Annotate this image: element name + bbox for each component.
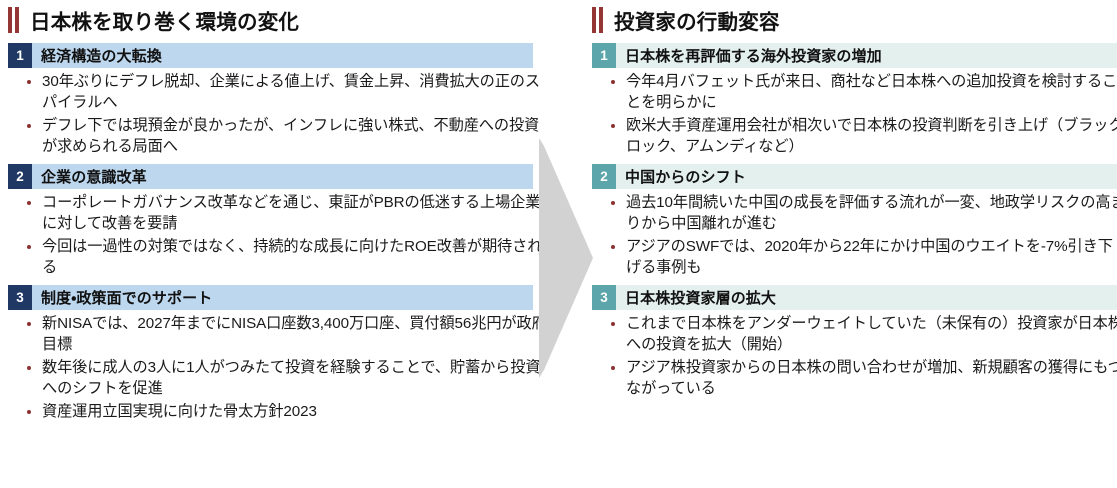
left-section-3-heading: 制度・政策面でのサポート xyxy=(32,285,533,310)
list-item: デフレ下では現預金が良かったが、インフレに強い株式、不動産への投資が求められる局… xyxy=(8,116,547,158)
list-item: アジア株投資家からの日本株の問い合わせが増加、新規顧客の獲得にもつながっている xyxy=(592,358,1117,400)
list-item: アジアのSWFでは、2020年から22年にかけ中国のウエイトを-7%引き下げる事… xyxy=(592,237,1117,279)
right-section-2-number: 2 xyxy=(592,164,616,189)
bullet-dot-icon xyxy=(611,201,615,205)
list-item: 今回は一過性の対策ではなく、持続的な成長に向けたROE改善が期待される xyxy=(8,237,547,279)
right-section-3: 3 日本株投資家層の拡大 これまで日本株をアンダーウェイトしていた（未保有の）投… xyxy=(592,285,1117,400)
left-section-1: 1 経済構造の大転換 30年ぶりにデフレ脱却、企業による値上げ、賃金上昇、消費拡… xyxy=(8,43,541,158)
right-section-2-heading: 中国からのシフト xyxy=(616,164,1117,189)
right-section-2: 2 中国からのシフト 過去10年間続いた中国の成長を評価する流れが一変、地政学リ… xyxy=(592,164,1117,279)
list-item: コーポレートガバナンス改革などを通じ、東証がPBRの低迷する上場企業に対して改善… xyxy=(8,193,547,235)
list-item-text: 資産運用立国実現に向けた骨太方針2023 xyxy=(42,403,317,420)
right-section-2-bullets: 過去10年間続いた中国の成長を評価する流れが一変、地政学リスクの高まりから中国離… xyxy=(592,193,1117,279)
right-section-1-header: 1 日本株を再評価する海外投資家の増加 xyxy=(592,43,1117,68)
left-section-1-heading: 経済構造の大転換 xyxy=(32,43,533,68)
bullet-dot-icon xyxy=(27,80,31,84)
list-item: 資産運用立国実現に向けた骨太方針2023 xyxy=(8,402,547,423)
left-section-2-bullets: コーポレートガバナンス改革などを通じ、東証がPBRの低迷する上場企業に対して改善… xyxy=(8,193,541,279)
left-section-1-number: 1 xyxy=(8,43,32,68)
right-section-1-heading: 日本株を再評価する海外投資家の増加 xyxy=(616,43,1117,68)
list-item: 30年ぶりにデフレ脱却、企業による値上げ、賃金上昇、消費拡大の正のスパイラルへ xyxy=(8,72,547,114)
list-item-text: 今年4月バフェット氏が来日、商社など日本株への追加投資を検討することを明らかに xyxy=(626,73,1117,111)
right-section-3-bullets: これまで日本株をアンダーウェイトしていた（未保有の）投資家が日本株への投資を拡大… xyxy=(592,314,1117,400)
left-column: 日本株を取り巻く環境の変化 1 経済構造の大転換 30年ぶりにデフレ脱却、企業に… xyxy=(8,0,541,429)
list-item: 数年後に成人の3人に1人がつみたて投資を経験することで、貯蓄から投資へのシフトを… xyxy=(8,358,547,400)
list-item-text: 数年後に成人の3人に1人がつみたて投資を経験することで、貯蓄から投資へのシフトを… xyxy=(42,359,540,397)
left-section-3-bullets: 新NISAでは、2027年までにNISA口座数3,400万口座、買付額56兆円が… xyxy=(8,314,541,423)
right-section-1-bullets: 今年4月バフェット氏が来日、商社など日本株への追加投資を検討することを明らかに … xyxy=(592,72,1117,158)
left-section-1-header: 1 経済構造の大転換 xyxy=(8,43,533,68)
list-item-text: 新NISAでは、2027年までにNISA口座数3,400万口座、買付額56兆円が… xyxy=(42,315,547,353)
bullet-dot-icon xyxy=(611,322,615,326)
left-section-3-number: 3 xyxy=(8,285,32,310)
list-item: 今年4月バフェット氏が来日、商社など日本株への追加投資を検討することを明らかに xyxy=(592,72,1117,114)
list-item-text: アジア株投資家からの日本株の問い合わせが増加、新規顧客の獲得にもつながっている xyxy=(626,359,1117,397)
right-section-2-header: 2 中国からのシフト xyxy=(592,164,1117,189)
bullet-dot-icon xyxy=(611,124,615,128)
right-column-title: 投資家の行動変容 xyxy=(592,3,1117,37)
list-item: 過去10年間続いた中国の成長を評価する流れが一変、地政学リスクの高まりから中国離… xyxy=(592,193,1117,235)
right-section-3-heading: 日本株投資家層の拡大 xyxy=(616,285,1117,310)
bullet-dot-icon xyxy=(611,245,615,249)
right-section-3-header: 3 日本株投資家層の拡大 xyxy=(592,285,1117,310)
bullet-dot-icon xyxy=(27,366,31,370)
list-item-text: 過去10年間続いた中国の成長を評価する流れが一変、地政学リスクの高まりから中国離… xyxy=(626,194,1117,232)
bullet-dot-icon xyxy=(27,322,31,326)
left-section-2: 2 企業の意識改革 コーポレートガバナンス改革などを通じ、東証がPBRの低迷する… xyxy=(8,164,541,279)
right-section-1: 1 日本株を再評価する海外投資家の増加 今年4月バフェット氏が来日、商社など日本… xyxy=(592,43,1117,158)
title-accent-bars-icon xyxy=(592,7,603,33)
list-item-text: デフレ下では現預金が良かったが、インフレに強い株式、不動産への投資が求められる局… xyxy=(42,117,539,155)
list-item-text: コーポレートガバナンス改革などを通じ、東証がPBRの低迷する上場企業に対して改善… xyxy=(42,194,540,232)
list-item-text: 欧米大手資産運用会社が相次いで日本株の投資判断を引き上げ（ブラックロック、アムン… xyxy=(626,117,1117,155)
list-item: 欧米大手資産運用会社が相次いで日本株の投資判断を引き上げ（ブラックロック、アムン… xyxy=(592,116,1117,158)
list-item: これまで日本株をアンダーウェイトしていた（未保有の）投資家が日本株への投資を拡大… xyxy=(592,314,1117,356)
left-column-title-text: 日本株を取り巻く環境の変化 xyxy=(30,5,299,35)
right-column: 投資家の行動変容 1 日本株を再評価する海外投資家の増加 今年4月バフェット氏が… xyxy=(592,0,1117,406)
right-column-title-text: 投資家の行動変容 xyxy=(614,5,780,35)
list-item-text: アジアのSWFでは、2020年から22年にかけ中国のウエイトを-7%引き下げる事… xyxy=(626,238,1113,276)
right-section-1-number: 1 xyxy=(592,43,616,68)
bullet-dot-icon xyxy=(611,366,615,370)
bullet-dot-icon xyxy=(27,245,31,249)
left-section-3-header: 3 制度・政策面でのサポート xyxy=(8,285,533,310)
left-section-3: 3 制度・政策面でのサポート 新NISAでは、2027年までにNISA口座数3,… xyxy=(8,285,541,423)
left-section-2-number: 2 xyxy=(8,164,32,189)
bullet-dot-icon xyxy=(27,410,31,414)
bullet-dot-icon xyxy=(27,201,31,205)
list-item-text: これまで日本株をアンダーウェイトしていた（未保有の）投資家が日本株への投資を拡大… xyxy=(626,315,1117,353)
bullet-dot-icon xyxy=(27,124,31,128)
list-item: 新NISAでは、2027年までにNISA口座数3,400万口座、買付額56兆円が… xyxy=(8,314,547,356)
left-section-1-bullets: 30年ぶりにデフレ脱却、企業による値上げ、賃金上昇、消費拡大の正のスパイラルへ … xyxy=(8,72,541,158)
bullet-dot-icon xyxy=(611,80,615,84)
slide-canvas: 日本株を取り巻く環境の変化 1 経済構造の大転換 30年ぶりにデフレ脱却、企業に… xyxy=(0,0,1117,488)
list-item-text: 30年ぶりにデフレ脱却、企業による値上げ、賃金上昇、消費拡大の正のスパイラルへ xyxy=(42,73,540,111)
right-section-3-number: 3 xyxy=(592,285,616,310)
left-column-title: 日本株を取り巻く環境の変化 xyxy=(8,3,541,37)
left-section-2-header: 2 企業の意識改革 xyxy=(8,164,533,189)
list-item-text: 今回は一過性の対策ではなく、持続的な成長に向けたROE改善が期待される xyxy=(42,238,542,276)
left-section-2-heading: 企業の意識改革 xyxy=(32,164,533,189)
title-accent-bars-icon xyxy=(8,7,19,33)
